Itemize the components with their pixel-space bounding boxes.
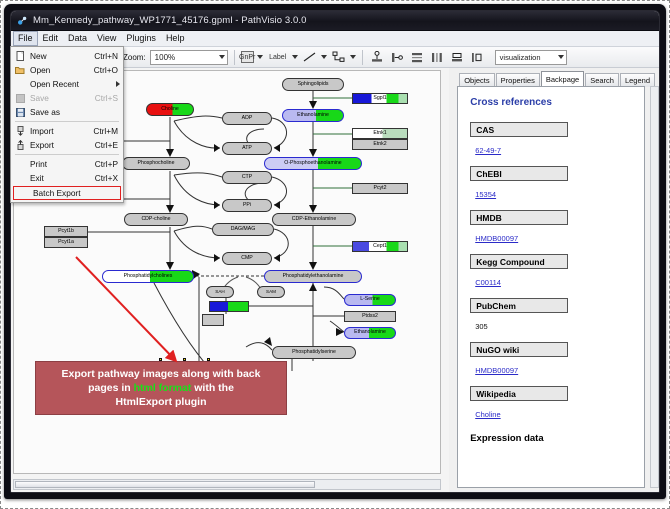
xref-label-kegg-compound: Kegg Compound — [470, 254, 568, 269]
node-label: Etnk1 — [373, 131, 386, 136]
cross-references-heading: Cross references — [470, 97, 644, 108]
menu-item-label: Import — [26, 126, 93, 136]
menu-item-print[interactable]: Print Ctrl+P — [11, 157, 123, 171]
menu-item-label: Print — [26, 159, 95, 169]
new-file-icon — [14, 51, 26, 61]
window-title: Mm_Kennedy_pathway_WP1771_45176.gpml - P… — [33, 15, 307, 26]
node-ppi[interactable]: PPi — [222, 199, 272, 212]
app-screenshot: Mm_Kennedy_pathway_WP1771_45176.gpml - P… — [0, 0, 670, 509]
node-phosphatidylcholines[interactable]: Phosphatidylcholines — [102, 270, 194, 283]
node-ptdss2[interactable]: Ptdss2 — [344, 311, 396, 322]
import-icon — [14, 126, 26, 136]
node-pcyt1a[interactable]: Pcyt1a — [44, 237, 88, 248]
annotation-highlight: html format — [134, 382, 192, 394]
visualization-value: visualization — [500, 53, 541, 62]
menu-help[interactable]: Help — [161, 31, 190, 46]
node-label: DAG/MAG — [231, 227, 256, 232]
align-top-icon[interactable] — [369, 49, 385, 65]
node-ethanolamine-2[interactable]: Ethanolamine — [344, 327, 396, 339]
node-sgpl1[interactable]: Sgpl1 — [352, 93, 408, 104]
menu-item-shortcut: Ctrl+S — [95, 93, 120, 103]
menu-item-label: Open — [26, 65, 94, 75]
node-label: Etnk2 — [373, 142, 386, 147]
zoom-label: Zoom: — [123, 53, 146, 62]
tab-objects[interactable]: Objects — [459, 73, 494, 87]
menu-plugins[interactable]: Plugins — [121, 31, 161, 46]
menu-separator-2 — [15, 154, 119, 155]
canvas-horizontal-scrollbar[interactable] — [13, 479, 441, 490]
menu-item-label: Export — [26, 140, 95, 150]
menu-item-label: Save as — [26, 107, 118, 117]
menu-item-label: Batch Export — [29, 188, 117, 198]
xref-value-cas[interactable]: 62-49-7 — [475, 146, 501, 155]
submenu-arrow-icon — [116, 81, 120, 87]
node-atp[interactable]: ATP — [222, 142, 272, 155]
node-o-phosphoethanolamine[interactable]: O-Phosphoethanolamine — [264, 157, 362, 170]
backpage-content: Cross references CAS 62-49-7 ChEBI 15354… — [457, 86, 645, 488]
panel-tab-strip: Objects Properties Backpage Search Legen… — [451, 72, 655, 87]
menu-file[interactable]: File — [13, 31, 38, 46]
scrollbar-thumb[interactable] — [15, 481, 315, 488]
zoom-combobox[interactable]: 100% — [150, 50, 228, 65]
node-sah[interactable]: SAH — [206, 286, 234, 298]
tab-legend[interactable]: Legend — [620, 73, 655, 87]
node-label: Phosphocholine — [138, 161, 175, 166]
tab-search[interactable]: Search — [585, 73, 619, 87]
chevron-down-icon-2 — [558, 55, 564, 59]
menu-item-export[interactable]: Export Ctrl+E — [11, 138, 123, 152]
expression-data-heading: Expression data — [470, 433, 644, 444]
menu-item-label: Open Recent — [26, 79, 116, 89]
node-label: O-Phosphoethanolamine — [284, 161, 341, 166]
node-label: SAM — [266, 290, 276, 295]
menu-item-shortcut: Ctrl+M — [93, 126, 120, 136]
node-l-serine[interactable]: L-Serine — [344, 294, 396, 306]
xref-label-chebi: ChEBI — [470, 166, 568, 181]
node-label: Ethanolamine — [297, 113, 329, 118]
node-label: PPi — [243, 203, 251, 208]
line-tool-icon[interactable] — [302, 49, 318, 65]
pathvisio-icon — [17, 15, 28, 26]
tab-backpage[interactable]: Backpage — [541, 71, 584, 87]
tab-properties[interactable]: Properties — [496, 73, 540, 87]
annotation-line-2a: pages in — [88, 382, 134, 394]
menu-item-shortcut: Ctrl+N — [94, 51, 120, 61]
node-pemt[interactable] — [202, 314, 224, 326]
interaction-tool-icon[interactable] — [331, 49, 347, 65]
node-label: Sgpl1 — [373, 96, 386, 101]
save-icon — [14, 94, 26, 103]
interaction-dropdown-icon[interactable] — [350, 55, 356, 59]
menu-item-save: Save Ctrl+S — [11, 91, 123, 105]
menu-item-new[interactable]: New Ctrl+N — [11, 49, 123, 63]
node-pcyt1b[interactable]: Pcyt1b — [44, 226, 88, 237]
node-label: Pcyt2 — [374, 186, 387, 191]
menu-separator — [15, 121, 119, 122]
node-label: CDP-choline — [141, 217, 170, 222]
annotation-line-1: Export pathway images along with back — [62, 368, 261, 380]
zoom-value: 100% — [155, 53, 175, 62]
node-etnk1[interactable]: Etnk1 — [352, 128, 408, 139]
node-label: SAH — [215, 290, 224, 295]
xref-value-chebi[interactable]: 15354 — [475, 190, 496, 199]
node-label: Choline — [161, 107, 179, 112]
node-cmp[interactable]: CMP — [222, 252, 272, 265]
node-etnk2[interactable]: Etnk2 — [352, 139, 408, 150]
node-sam[interactable]: SAM — [257, 286, 285, 298]
node-label: Ethanolamine — [354, 330, 386, 335]
menu-item-open[interactable]: Open Ctrl+O — [11, 63, 123, 77]
node-choline[interactable]: Choline — [146, 103, 194, 116]
xref-label-wikipedia: Wikipedia — [470, 386, 568, 401]
toolbar-separator-2 — [362, 50, 363, 65]
menu-bar: File Edit Data View Plugins Help — [11, 31, 659, 47]
node-phosphatidylserine[interactable]: Phosphatidylserine — [272, 346, 356, 359]
node-label: L-Serine — [360, 297, 380, 302]
menu-item-open-recent[interactable]: Open Recent — [11, 77, 123, 91]
node-phosphocholine[interactable]: Phosphocholine — [122, 157, 190, 170]
xref-value-nugo-wiki[interactable]: HMDB00097 — [475, 366, 518, 375]
node-chka-chkb[interactable] — [209, 301, 249, 312]
node-cept1[interactable]: Cept1 — [352, 241, 408, 252]
xref-value-kegg-compound[interactable]: C00114 — [475, 278, 501, 287]
menu-item-label: New — [26, 51, 94, 61]
panel-vertical-scrollbar[interactable] — [650, 86, 659, 488]
export-icon — [14, 140, 26, 150]
node-label: ATP — [242, 146, 252, 151]
menu-item-label: Save — [26, 93, 95, 103]
node-ctp[interactable]: CTP — [222, 171, 272, 184]
menu-item-exit[interactable]: Exit Ctrl+X — [11, 171, 123, 185]
node-label: Phosphatidylethanolamine — [283, 274, 344, 279]
menu-item-import[interactable]: Import Ctrl+M — [11, 124, 123, 138]
xref-value-wikipedia[interactable]: Choline — [475, 410, 500, 419]
geneproduct-dropdown-icon[interactable] — [257, 55, 263, 59]
node-adp[interactable]: ADP — [222, 112, 272, 125]
visualization-combobox[interactable]: visualization — [495, 50, 567, 65]
xref-value-pubchem: 305 — [475, 322, 488, 331]
xref-label-pubchem: PubChem — [470, 298, 568, 313]
node-cdp-choline[interactable]: CDP-choline — [124, 213, 188, 226]
xref-label-nugo-wiki: NuGO wiki — [470, 342, 568, 357]
annotation-line-3: HtmlExport plugin — [116, 396, 207, 408]
node-label: Phosphatidylcholines — [124, 274, 173, 279]
menu-item-shortcut: Ctrl+X — [95, 173, 120, 183]
menu-item-shortcut: Ctrl+E — [95, 140, 120, 150]
node-label: Sphingolipids — [298, 82, 329, 87]
node-label: Phosphatidylserine — [292, 350, 336, 355]
file-menu-dropdown[interactable]: New Ctrl+N Open Ctrl+O Open Recent Save … — [10, 46, 124, 203]
node-phosphatidylethanolamine[interactable]: Phosphatidylethanolamine — [264, 270, 362, 283]
stack-bottom-icon[interactable] — [449, 49, 465, 65]
chevron-down-icon — [219, 55, 225, 59]
menu-view[interactable]: View — [92, 31, 121, 46]
xref-value-hmdb[interactable]: HMDB00097 — [475, 234, 518, 243]
node-pcyt2[interactable]: Pcyt2 — [352, 183, 408, 194]
node-label: Cept1 — [373, 244, 387, 249]
common-width-icon[interactable] — [469, 49, 485, 65]
annotation-line-2b: with the — [191, 382, 234, 394]
node-label: Ptdss2 — [362, 314, 378, 319]
align-columns-icon[interactable] — [429, 49, 445, 65]
xref-label-cas: CAS — [470, 122, 568, 137]
label-dropdown-icon[interactable] — [292, 55, 298, 59]
menu-item-batch-export[interactable]: Batch Export — [13, 186, 121, 200]
menu-item-label: Exit — [26, 173, 95, 183]
side-panel: Objects Properties Backpage Search Legen… — [449, 68, 659, 493]
node-label: Pcyt1b — [58, 229, 74, 234]
align-left-icon[interactable] — [389, 49, 405, 65]
node-label: CMP — [241, 256, 253, 261]
menu-data[interactable]: Data — [63, 31, 92, 46]
line-dropdown-icon[interactable] — [321, 55, 327, 59]
node-label: Pcyt1a — [58, 240, 74, 245]
node-dag-mag[interactable]: DAG/MAG — [212, 223, 274, 236]
menu-item-shortcut: Ctrl+O — [94, 65, 120, 75]
menu-item-save-as[interactable]: Save as — [11, 105, 123, 119]
node-cdp-ethanolamine[interactable]: CDP-Ethanolamine — [272, 213, 356, 226]
save-as-icon — [14, 108, 26, 117]
node-ethanolamine-1[interactable]: Ethanolamine — [282, 109, 344, 122]
title-bar: Mm_Kennedy_pathway_WP1771_45176.gpml - P… — [11, 11, 659, 31]
geneproduct-tool-icon[interactable]: GnPr — [241, 51, 254, 63]
menu-edit[interactable]: Edit — [38, 31, 64, 46]
xref-label-hmdb: HMDB — [470, 210, 568, 225]
node-label: CTP — [242, 175, 252, 180]
node-label: CDP-Ethanolamine — [292, 217, 336, 222]
menu-item-shortcut: Ctrl+P — [95, 159, 120, 169]
node-sphingolipids[interactable]: Sphingolipids — [282, 78, 344, 91]
annotation-callout: Export pathway images along with back pa… — [35, 361, 287, 415]
align-rows-icon[interactable] — [409, 49, 425, 65]
folder-open-icon — [14, 66, 26, 75]
node-label: ADP — [242, 116, 253, 121]
label-tool-icon[interactable]: Label — [267, 49, 289, 65]
toolbar-separator — [234, 50, 235, 65]
